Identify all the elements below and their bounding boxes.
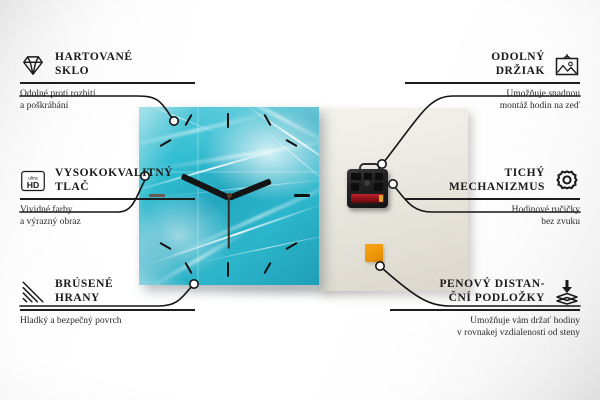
foam-spacer-pad bbox=[365, 244, 383, 262]
clock-center-hub bbox=[227, 193, 232, 198]
feature-divider bbox=[20, 82, 195, 84]
feature-description-line2: montáž hodin na zeď bbox=[405, 100, 580, 112]
feature-description: Vividné farby bbox=[20, 204, 195, 216]
feature-description: Hladký a bezpečný povrch bbox=[20, 315, 195, 327]
feature-title-line2: TLAČ bbox=[55, 181, 173, 195]
diamond-icon bbox=[20, 52, 46, 78]
mechanism-battery bbox=[351, 194, 384, 203]
feature-title: BRÚSENÉ bbox=[55, 278, 113, 292]
feature-description: Hodinové ručičky bbox=[405, 204, 580, 216]
ultra-hd-large-text: HD bbox=[27, 179, 40, 189]
feature-title: ODOLNÝ bbox=[491, 51, 545, 65]
feature-divider bbox=[20, 198, 195, 200]
feature-divider bbox=[20, 309, 195, 311]
feature-description-line2: bez zvuku bbox=[405, 216, 580, 228]
feature-divider bbox=[405, 198, 580, 200]
feature-description-line2: v rovnakej vzdialenosti od steny bbox=[390, 327, 580, 339]
feature-description: Umožňuje snadnou bbox=[405, 88, 580, 100]
feature-title: TICHÝ bbox=[449, 167, 545, 181]
feature-description-line2: a poškrábání bbox=[20, 100, 195, 112]
feature-title-line2: ČNÍ PODLOŽKY bbox=[439, 292, 545, 306]
mechanism-shaft bbox=[364, 180, 370, 186]
feature-title-line2: SKLO bbox=[55, 65, 133, 79]
feature-title-line2: HRANY bbox=[55, 292, 113, 306]
clock-second-hand bbox=[228, 197, 230, 249]
feature-foam-spacers: PENOVÝ DISTAN- ČNÍ PODLOŽKY Umožňuje vám… bbox=[390, 278, 580, 339]
feature-tempered-glass: HARTOVANÉ SKLO Odolné proti rozbití a po… bbox=[20, 51, 195, 112]
gear-icon bbox=[554, 168, 580, 194]
brushed-edge-icon bbox=[20, 279, 46, 305]
feature-silent-mechanism: TICHÝ MECHANIZMUS Hodinové ručičky bez z… bbox=[405, 167, 580, 228]
feature-high-quality-print: ultra HD VYSOKOKVALITNÝ TLAČ Vividné far… bbox=[20, 167, 195, 228]
feature-polished-edges: BRÚSENÉ HRANY Hladký a bezpečný povrch bbox=[20, 278, 195, 327]
clock-marker bbox=[227, 262, 229, 277]
foam-pad-side bbox=[383, 246, 387, 264]
feature-description: Umožňuje vám držať hodiny bbox=[390, 315, 580, 327]
press-down-layers-icon bbox=[554, 279, 580, 305]
feature-title-line2: MECHANIZMUS bbox=[449, 181, 545, 195]
feature-title-line2: DRŽIAK bbox=[491, 65, 545, 79]
clock-marker bbox=[294, 194, 310, 197]
feature-divider bbox=[405, 82, 580, 84]
clock-marker bbox=[227, 113, 229, 128]
feature-title: PENOVÝ DISTAN- bbox=[439, 278, 545, 292]
battery-terminal bbox=[379, 195, 383, 202]
feature-title: HARTOVANÉ bbox=[55, 51, 133, 65]
feature-durable-hanger: ODOLNÝ DRŽIAK Umožňuje snadnou montáž ho… bbox=[405, 51, 580, 112]
feature-description-line2: a výrazný obraz bbox=[20, 216, 195, 228]
feature-divider bbox=[390, 309, 580, 311]
clock-movement-mechanism bbox=[347, 169, 388, 208]
infographic-canvas: HARTOVANÉ SKLO Odolné proti rozbití a po… bbox=[0, 0, 600, 400]
picture-frame-hanger-icon bbox=[554, 52, 580, 78]
feature-title: VYSOKOKVALITNÝ bbox=[55, 167, 173, 181]
ultra-hd-icon: ultra HD bbox=[20, 168, 46, 194]
feature-description: Odolné proti rozbití bbox=[20, 88, 195, 100]
